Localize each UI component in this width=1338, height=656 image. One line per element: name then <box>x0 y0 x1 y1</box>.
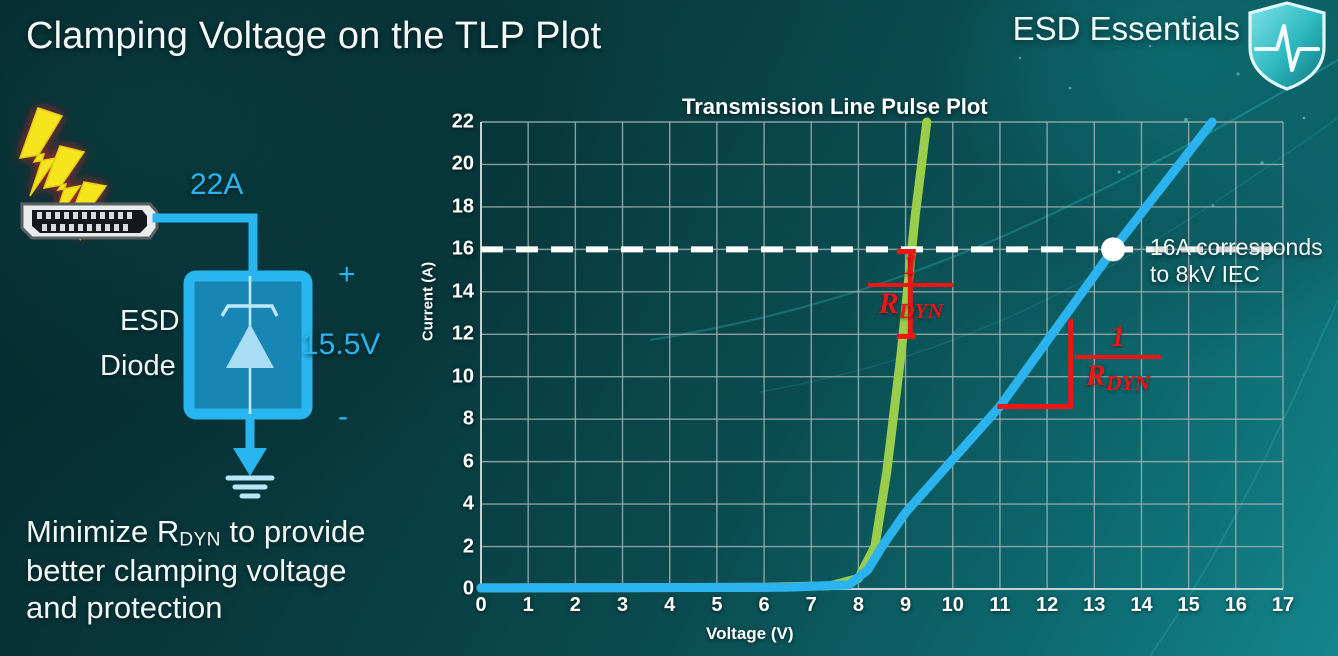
summary-text: Minimize RDYN to provide better clamping… <box>26 513 446 626</box>
ground-icon <box>228 478 272 496</box>
hdmi-connector-icon <box>22 204 157 238</box>
callout-line-2: to 8kV IEC <box>1150 261 1323 288</box>
surge-current-label: 22A <box>190 168 243 202</box>
summary-line-3: and protection <box>26 589 446 626</box>
data-point-marker[interactable] <box>1101 237 1125 261</box>
esd-label-line1: ESD <box>120 305 180 338</box>
callout-text: 16A corresponds to 8kV IEC <box>1150 234 1323 287</box>
summary-line-2: better clamping voltage <box>26 552 446 589</box>
polarity-minus-label: - <box>338 400 348 434</box>
tlp-chart: Transmission Line Pulse Plot Current (A)… <box>406 88 1338 656</box>
summary-line-1: Minimize RDYN to provide <box>26 513 446 552</box>
polarity-plus-label: + <box>338 258 356 292</box>
blue-frac-denominator: RDYN <box>1068 361 1168 394</box>
green-frac-denominator: RDYN <box>861 289 961 322</box>
slide-root: Clamping Voltage on the TLP Plot ESD Ess… <box>0 0 1338 656</box>
summary-line-1-post: to provide <box>221 514 366 549</box>
summary-line-1-pre: Minimize R <box>26 514 179 549</box>
esd-circuit-diagram: ESD Diode 22A 15.5V + - <box>0 100 420 500</box>
series-line-0 <box>481 122 927 588</box>
clamp-voltage-label: 15.5V <box>302 328 380 362</box>
chart-plot-area <box>406 88 1338 656</box>
wire-arrow-icon <box>233 448 267 476</box>
slope-annotation-green: 1 RDYN <box>861 250 961 322</box>
circuit-wires <box>157 218 253 278</box>
blue-frac-numerator: 1 <box>1068 322 1168 352</box>
circuit-graphics <box>0 100 420 500</box>
summary-line-1-sub: DYN <box>179 529 220 550</box>
shield-heartbeat-icon <box>1244 0 1330 92</box>
brand-label: ESD Essentials <box>1013 10 1240 48</box>
green-frac-numerator: 1 <box>861 250 961 280</box>
page-title: Clamping Voltage on the TLP Plot <box>26 15 601 58</box>
slope-annotation-blue: 1 RDYN <box>1068 322 1168 394</box>
callout-line-1: 16A corresponds <box>1150 234 1323 261</box>
esd-label-line2: Diode <box>100 350 176 383</box>
